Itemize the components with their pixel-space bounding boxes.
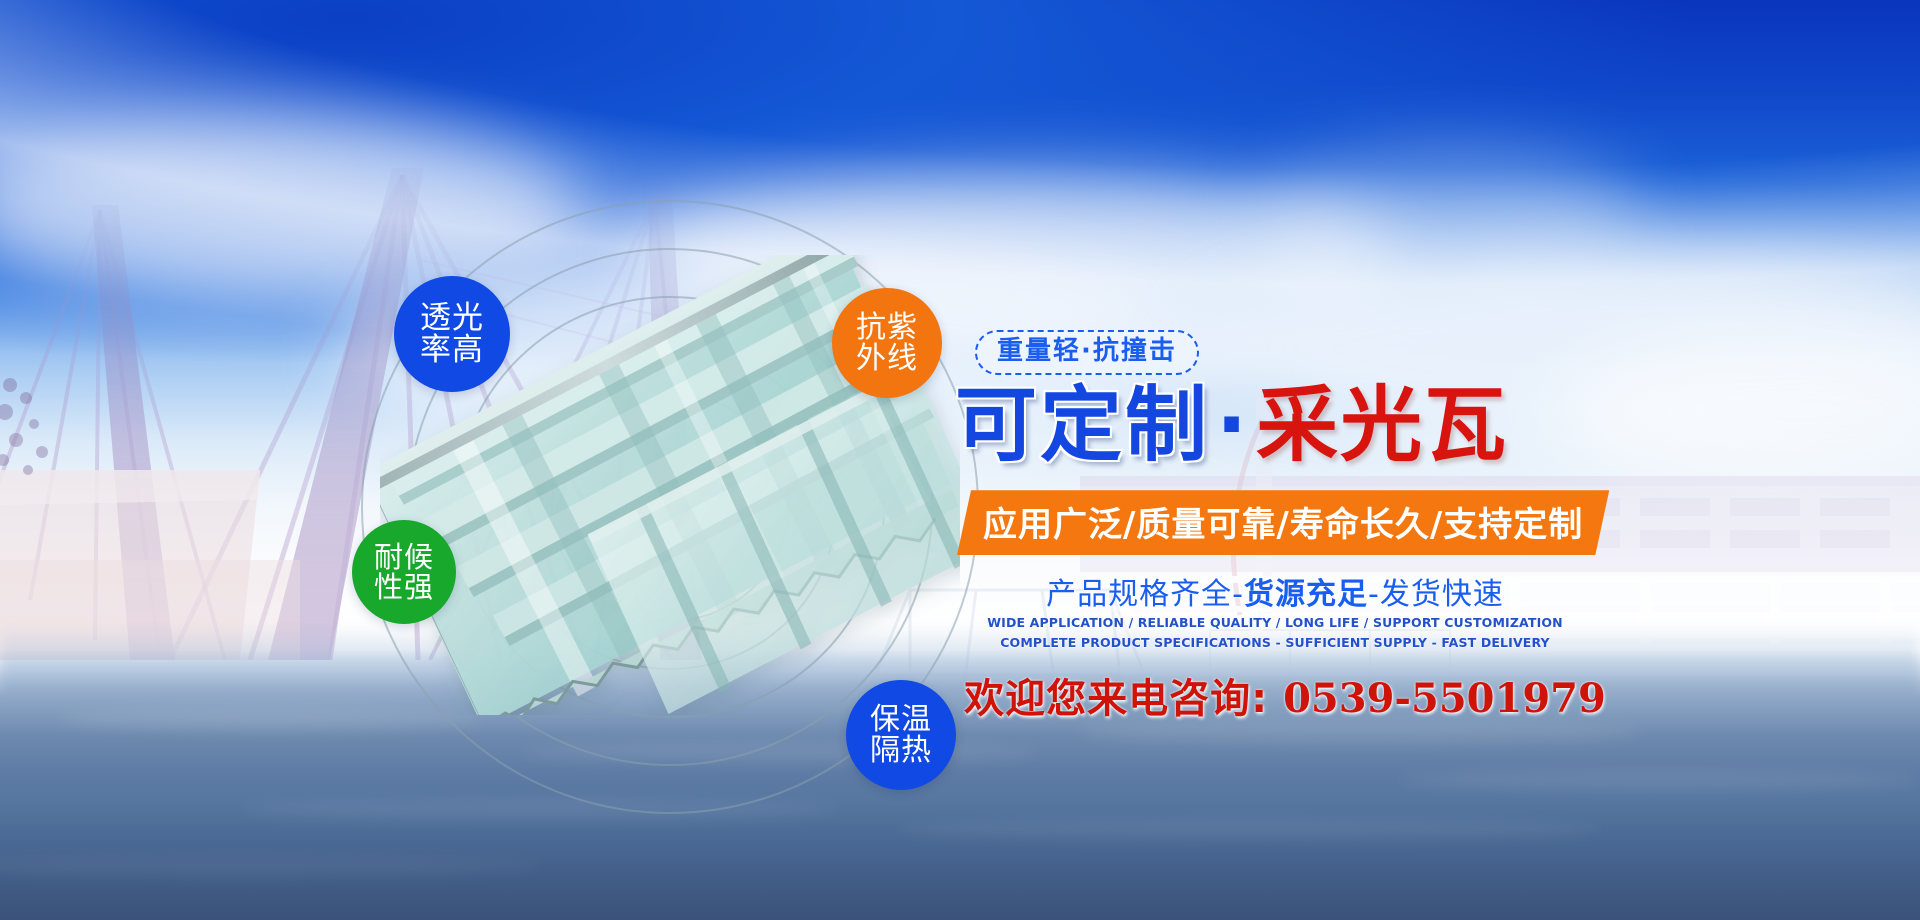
headline-separator: · (1210, 378, 1256, 473)
english-line-2: COMPLETE PRODUCT SPECIFICATIONS - SUFFIC… (955, 633, 1595, 652)
badge-line-1: 透光 (420, 302, 484, 334)
sea-depth-shadow (0, 800, 1920, 920)
feature-badge-insulation[interactable]: 保温 隔热 (846, 680, 956, 790)
badge-line-1: 保温 (870, 704, 932, 735)
headline-blue-part: 可定制 (955, 378, 1210, 473)
headline-red-part: 采光瓦 (1256, 377, 1508, 473)
supply-subline: 产品规格齐全-货源充足-发货快速 (955, 569, 1595, 613)
english-line-1: WIDE APPLICATION / RELIABLE QUALITY / LO… (955, 613, 1595, 632)
feature-badge-anti-uv[interactable]: 抗紫 外线 (832, 288, 942, 398)
subline-after: -发货快速 (1368, 577, 1504, 612)
badge-line-2: 外线 (856, 343, 918, 374)
feature-badge-weather-proof[interactable]: 耐候 性强 (352, 520, 456, 624)
subline-strong: 货源充足 (1244, 577, 1368, 612)
contact-phone[interactable]: 欢迎您来电咨询: 0539-5501979 (955, 666, 1615, 724)
subline-before: 产品规格齐全- (1046, 577, 1244, 612)
phone-number: 0539-5501979 (1283, 675, 1606, 722)
badge-line-1: 抗紫 (856, 312, 918, 343)
phone-label: 欢迎您来电咨询: (964, 676, 1268, 722)
badge-line-2: 性强 (374, 572, 434, 602)
badge-line-1: 耐候 (374, 542, 434, 572)
badge-line-2: 率高 (420, 334, 484, 366)
page-title: 可定制·采光瓦 (955, 381, 1655, 471)
marketing-copy-block: 重量轻·抗撞击 可定制·采光瓦 应用广泛/质量可靠/寿命长久/支持定制 产品规格… (955, 330, 1655, 724)
tagline-badge: 重量轻·抗撞击 (975, 330, 1199, 375)
banner-root: 透光 率高 抗紫 外线 耐候 性强 保温 隔热 重量轻·抗撞击 可定制·采光瓦 … (0, 0, 1920, 920)
badge-line-2: 隔热 (870, 735, 932, 766)
feature-badge-transmittance[interactable]: 透光 率高 (394, 276, 510, 392)
feature-list-bar: 应用广泛/质量可靠/寿命长久/支持定制 (957, 490, 1609, 555)
